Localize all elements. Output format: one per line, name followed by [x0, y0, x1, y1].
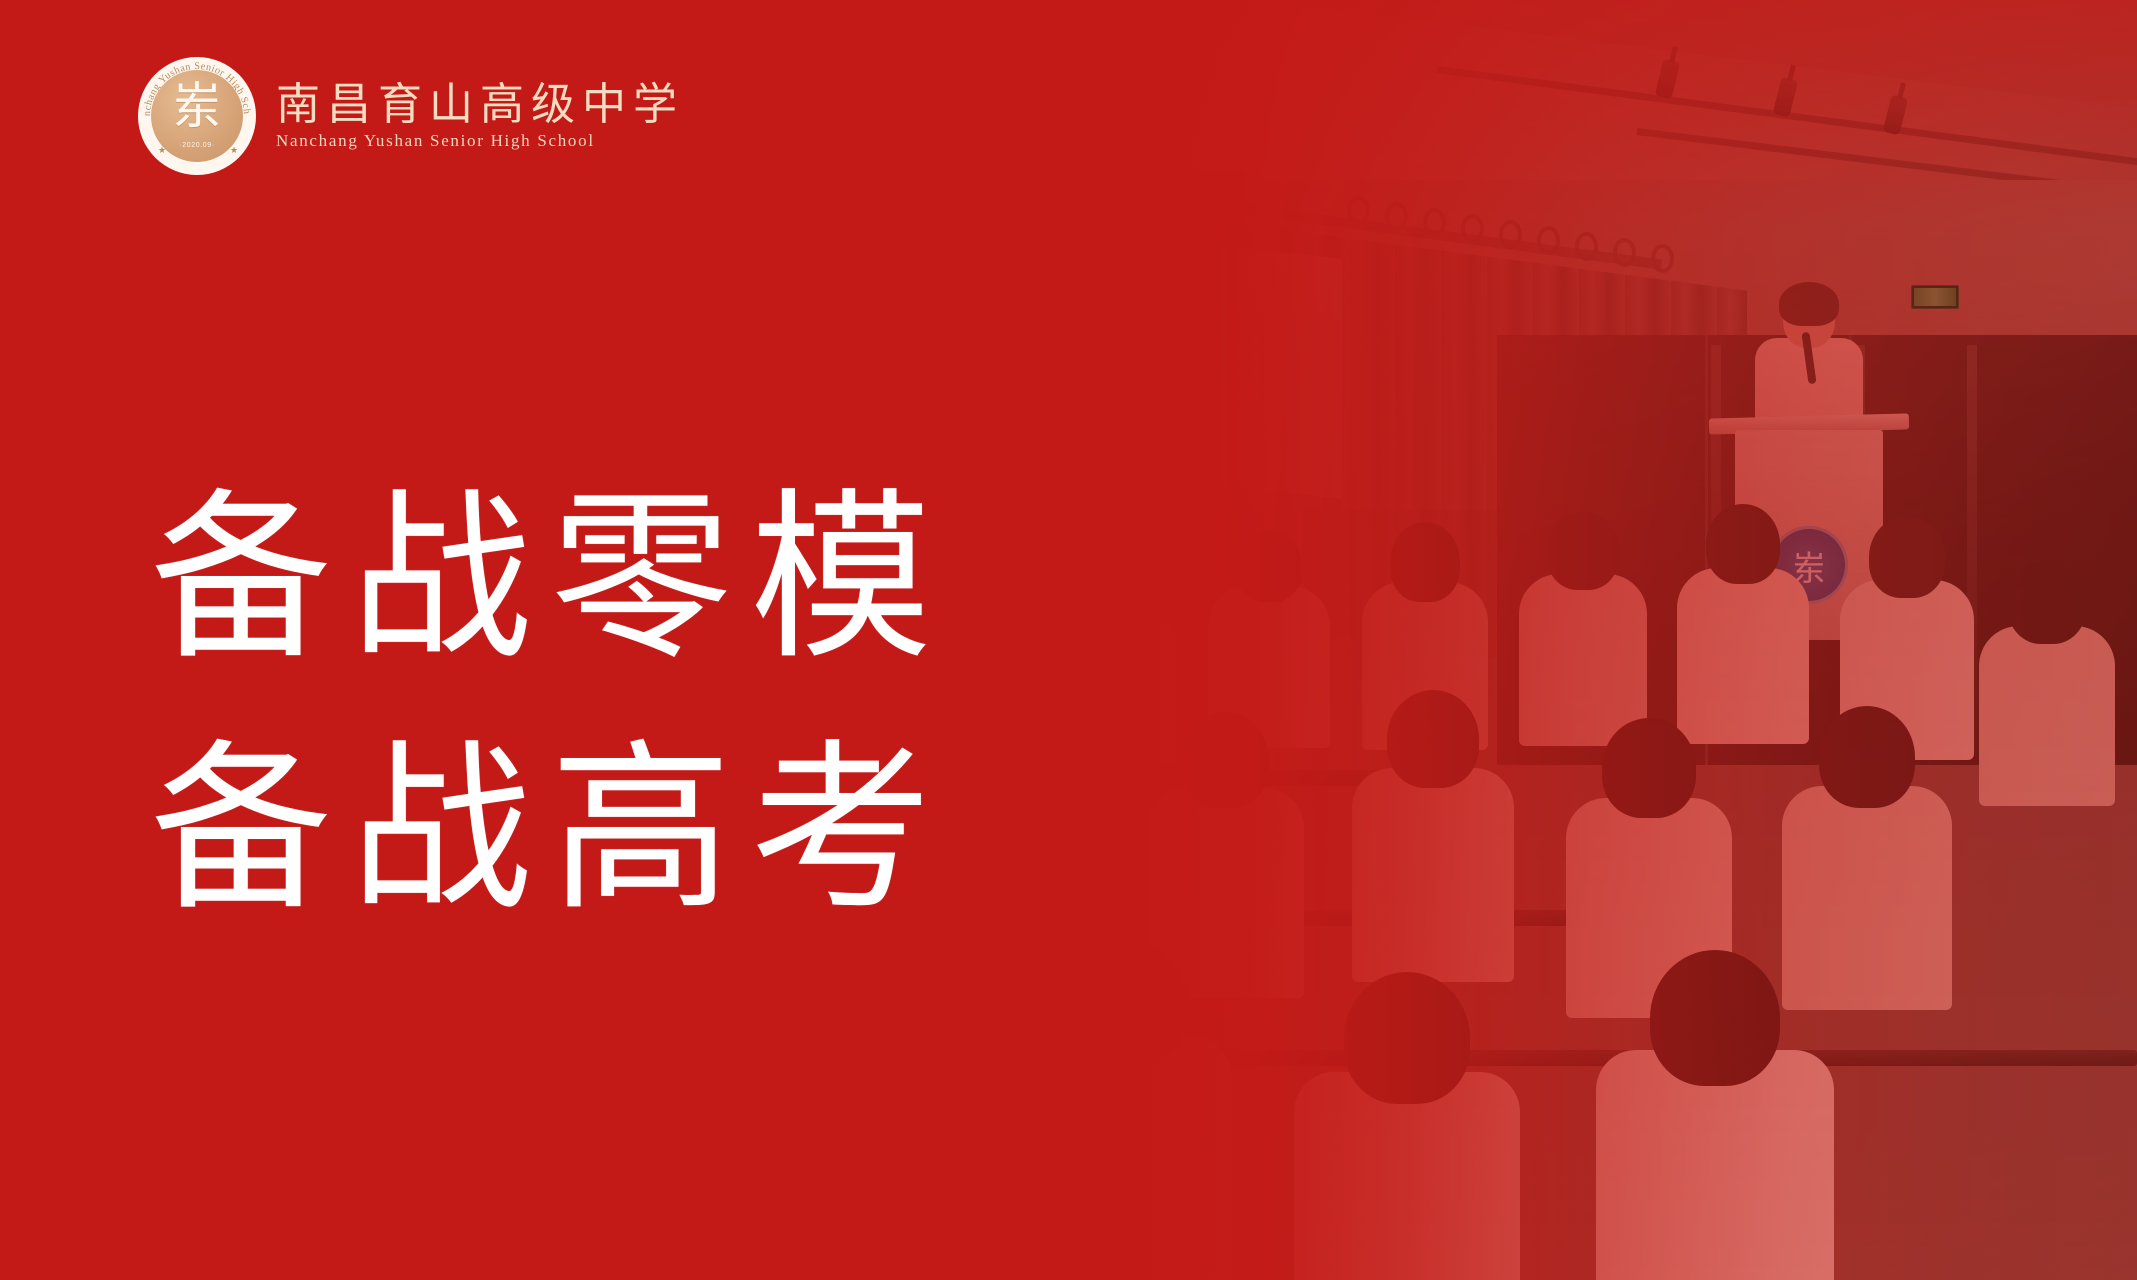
headline-line-2: 备战高考: [150, 706, 950, 957]
school-name-en: Nanchang Yushan Senior High School: [276, 132, 684, 151]
headline-line-1: 备战零模: [150, 455, 950, 706]
crest-glyph: 岽: [151, 81, 243, 131]
crest-founding-year: ·2020.09·: [151, 142, 243, 149]
school-name-cn: 南昌育山高级中学: [276, 82, 684, 128]
school-brand-lockup: Nanchang Yushan Senior High School 南昌育山高…: [138, 57, 684, 175]
poster-canvas: 岽: [0, 0, 2137, 1280]
crest-inner-disc: 岽 ·2020.09·: [151, 70, 243, 162]
photo-left-fade: [877, 0, 2137, 1280]
headline-block: 备战零模 备战高考: [150, 455, 950, 957]
brand-text-block: 南昌育山高级中学 Nanchang Yushan Senior High Sch…: [276, 82, 684, 151]
photo-scene: 岽: [877, 0, 2137, 1280]
assembly-hall-photo: 岽: [877, 0, 2137, 1280]
school-crest-logo: Nanchang Yushan Senior High School 南昌育山高…: [138, 57, 256, 175]
